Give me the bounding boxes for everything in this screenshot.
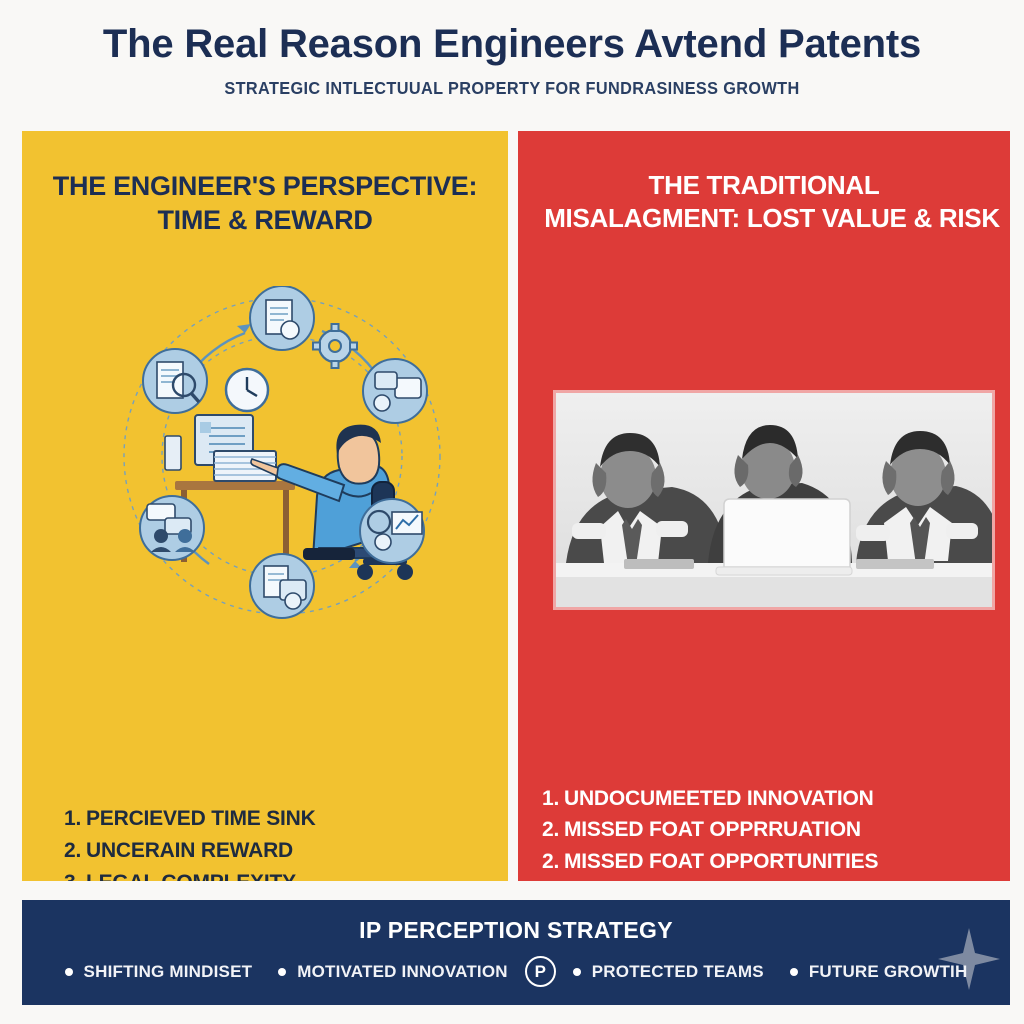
footer-item-motivated-innovation[interactable]: MOTIVATED INNOVATION (265, 962, 521, 982)
left-panel-heading-line1: THE ENGINEER'S PERSPECTIVE: (22, 169, 508, 203)
list-item-number: 2. (542, 814, 564, 845)
footer-item-future-growth[interactable]: FUTURE GROWTIH (777, 962, 981, 982)
left-panel-heading-line2: TIME & REWARD (22, 203, 508, 237)
list-item-number: 2. (542, 846, 564, 877)
header: The Real Reason Engineers Avtend Patents… (0, 0, 1024, 124)
page-title: The Real Reason Engineers Avtend Patents (0, 0, 1024, 66)
list-item-number: 2. (64, 835, 86, 867)
list-item-number: 3. (64, 867, 86, 881)
list-item-label: LEGAL COMPLEXITY (86, 871, 296, 881)
left-panel-engineers-perspective: THE ENGINEER'S PERSPECTIVE: TIME & REWAR… (22, 131, 508, 881)
right-panel-traditional-misalignment: THE TRADITIONAL MISALAGMENT: LOST VALUE … (518, 131, 1010, 881)
infographic-page: The Real Reason Engineers Avtend Patents… (0, 0, 1024, 1024)
list-item: 3.LEGAL COMPLEXITY (64, 867, 361, 881)
bullet-dot-icon (573, 968, 581, 976)
list-item-label: UNCERAIN REWARD (86, 839, 293, 862)
footer-item-label: FUTURE GROWTIH (809, 962, 968, 982)
footer-item-label: MOTIVATED INNOVATION (297, 962, 508, 982)
footer-item-list: SHIFTING MINDISET MOTIVATED INNOVATION P… (22, 944, 1010, 987)
list-item-number: 4. (542, 877, 564, 881)
bullet-dot-icon (278, 968, 286, 976)
engineer-at-desk-illustration (117, 286, 447, 626)
list-item-number: 1. (64, 803, 86, 835)
right-panel-heading-line2: MISALAGMENT: LOST VALUE & RISK (534, 202, 1010, 235)
list-item: 2.MISSED FOAT OPPRRUATION (542, 814, 878, 845)
bullet-dot-icon (65, 968, 73, 976)
footer-item-label: SHIFTING MINDISET (84, 962, 253, 982)
bullet-dot-icon (790, 968, 798, 976)
footer-banner: IP PERCEPTION STRATEGY SHIFTING MINDISET… (22, 900, 1010, 1005)
list-item: 2.MISSED FOAT OPPORTUNITIES (542, 846, 878, 877)
list-item-label: MISSED FOAT OPPORTUNITIES (564, 850, 878, 873)
right-panel-list: 1.UNDOCUMEETED INNOVATION 2.MISSED FOAT … (542, 783, 878, 881)
left-panel-heading: THE ENGINEER'S PERSPECTIVE: TIME & REWAR… (22, 131, 508, 237)
right-panel-heading: THE TRADITIONAL MISALAGMENT: LOST VALUE … (518, 131, 1010, 235)
list-item-number: 1. (542, 783, 564, 814)
list-item-label: MISSED FOAT OPPRRUATION (564, 818, 861, 841)
footer-item-protected-teams[interactable]: PROTECTED TEAMS (560, 962, 777, 982)
footer-title: IP PERCEPTION STRATEGY (22, 900, 1010, 944)
list-item: 1.UNDOCUMEETED INNOVATION (542, 783, 878, 814)
list-item-label: PERCIEVED TIME SINK (86, 807, 316, 830)
left-panel-list: 1.PERCIEVED TIME SINK 2.UNCERAIN REWARD … (64, 803, 361, 881)
page-subtitle: STRATEGIC INTLECTUUAL PROPERTY FOR FUNDR… (36, 66, 988, 99)
right-panel-heading-line1: THE TRADITIONAL (518, 169, 1010, 202)
list-item: 2.UNCERAIN REWARD (64, 835, 361, 867)
list-item: 1.PERCIEVED TIME SINK (64, 803, 361, 835)
frustrated-businessmen-photo (556, 393, 992, 607)
list-item-label: UNDOCUMEETED INNOVATION (564, 787, 874, 810)
footer-item-label: PROTECTED TEAMS (592, 962, 764, 982)
circled-p-patent-icon: P (525, 956, 556, 987)
footer-item-shifting-mindset[interactable]: SHIFTING MINDISET (52, 962, 266, 982)
list-item: 4.VULNERTATOR COPYING (542, 877, 878, 881)
